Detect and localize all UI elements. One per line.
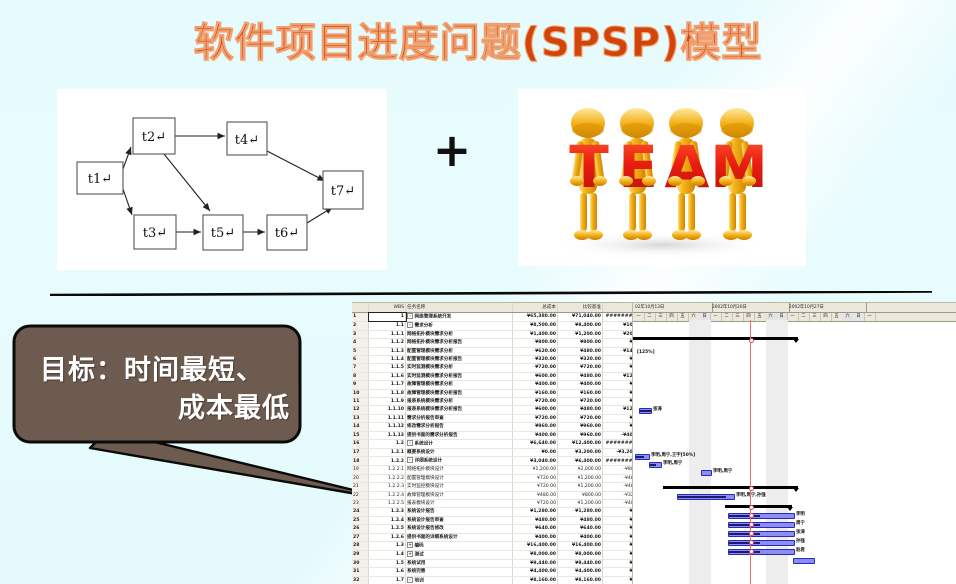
- cell-wbs[interactable]: 1.2.2.1: [369, 466, 406, 474]
- cell-wbs[interactable]: 1.2.3: [369, 508, 406, 516]
- cell-wbs[interactable]: 1.1.5: [369, 364, 406, 372]
- cell-id[interactable]: 30: [352, 559, 369, 567]
- cell-cost[interactable]: ¥6,640.00: [513, 440, 558, 449]
- cell-wbs[interactable]: 1.6: [369, 568, 406, 576]
- table-row[interactable]: 281.3+编码¥16,400.00¥16,400.00¥0.00: [352, 541, 632, 550]
- cell-task-name[interactable]: 系统设计报告审查: [406, 516, 513, 524]
- slide-canvas: 软件项目进度问题(SPSP)模型: [0, 0, 956, 584]
- table-row[interactable]: 71.1.5实时监测模块需求分析¥720.00¥720.00¥0.00: [352, 364, 632, 372]
- table-header-row: WBS 任务名称 总成本 比较基准 差异: [352, 303, 632, 313]
- cell-cost[interactable]: ¥65,380.00: [513, 313, 558, 322]
- gantt-task-bar[interactable]: [677, 494, 735, 500]
- table-row[interactable]: 211.2.2.3实时监控模块设计¥720.00¥1,200.00-¥480.0…: [352, 483, 632, 491]
- cell-task-name[interactable]: +测试: [406, 550, 513, 559]
- cell-cost[interactable]: ¥1,200.00: [513, 466, 558, 474]
- cell-task-name[interactable]: 配置管理模块设计: [406, 474, 513, 482]
- cell-variance[interactable]: ¥120.00: [603, 406, 633, 414]
- gantt-resource-label: 周宁: [796, 521, 805, 527]
- cell-wbs[interactable]: 1.7: [369, 576, 406, 584]
- cell-wbs[interactable]: 1.2.2.2: [369, 474, 406, 482]
- gantt-summary-bar[interactable]: [633, 337, 798, 340]
- cell-cost[interactable]: ¥600.00: [513, 406, 558, 414]
- section-divider: [50, 291, 932, 296]
- gantt-task-bar[interactable]: [728, 531, 795, 537]
- cell-task-name[interactable]: -需求分析: [406, 321, 513, 330]
- cell-wbs[interactable]: 1.2.2.3: [369, 483, 406, 491]
- table-row[interactable]: 251.2.4系统设计报告审查¥480.00¥480.00¥0.00: [352, 516, 632, 524]
- cell-cost[interactable]: ¥400.00: [513, 431, 558, 439]
- table-row[interactable]: 101.1.8故障管理模块需求分析报告¥160.00¥160.00¥0.00: [352, 389, 632, 397]
- gantt-task-bar[interactable]: [649, 462, 662, 468]
- cell-wbs[interactable]: 1.2.2.5: [369, 499, 406, 507]
- cell-task-name[interactable]: -详细系统设计: [406, 457, 513, 466]
- cell-variance[interactable]: -¥480.00: [603, 483, 633, 491]
- expand-collapse-icon[interactable]: -: [407, 440, 413, 446]
- team-letter-a: A: [665, 133, 710, 201]
- cell-wbs[interactable]: 1.4: [369, 550, 406, 559]
- cell-id[interactable]: 18: [352, 457, 369, 466]
- gantt-task-bar[interactable]: [728, 513, 795, 519]
- cell-cost[interactable]: ¥480.00: [513, 491, 558, 499]
- node-label-t3: t3↵: [143, 226, 167, 241]
- cell-variance[interactable]: -¥800.00: [603, 466, 633, 474]
- cell-baseline[interactable]: ¥8,000.00: [558, 550, 603, 559]
- gantt-progress-fill: [640, 410, 651, 412]
- cell-wbs[interactable]: 1.1.8: [369, 389, 406, 397]
- network-diagram-svg: t1↵ t2↵ t3↵ t4↵ t5↵ t6↵ t7↵: [57, 89, 387, 270]
- gantt-task-bar[interactable]: [639, 408, 652, 414]
- cell-variance[interactable]: -¥3,200.00: [603, 449, 633, 457]
- cell-variance[interactable]: ¥0.00: [603, 381, 633, 389]
- cell-id[interactable]: 29: [352, 550, 369, 559]
- timeline-segment: 2002年10月27日: [787, 303, 867, 312]
- cell-id[interactable]: 2: [352, 321, 369, 330]
- critical-marker: [749, 522, 754, 527]
- cell-id[interactable]: 3: [352, 330, 369, 338]
- cell-baseline[interactable]: ¥8,160.00: [558, 576, 603, 584]
- node-label-t1: t1↵: [88, 172, 112, 187]
- cell-id[interactable]: 9: [352, 381, 369, 389]
- cell-wbs[interactable]: 1.1: [369, 321, 406, 330]
- cell-wbs[interactable]: 1.1.13: [369, 431, 406, 439]
- cell-variance[interactable]: ¥0.00: [603, 339, 633, 347]
- table-row[interactable]: 191.2.2.1网络拓扑模块设计¥1,200.00¥2,000.00-¥800…: [352, 466, 632, 474]
- table-row[interactable]: 271.2.6提供书面的详细系统设计¥400.00¥400.00¥0.00: [352, 533, 632, 541]
- gantt-progress-fill: [729, 515, 760, 517]
- cell-id[interactable]: 13: [352, 414, 369, 422]
- cell-baseline[interactable]: ¥16,400.00: [558, 541, 603, 550]
- cell-task-name[interactable]: 故障管理模块需求分析: [406, 381, 513, 389]
- gantt-resource-label: 张涛: [653, 407, 662, 413]
- cell-id[interactable]: 4: [352, 339, 369, 347]
- table-row[interactable]: 171.2.1概要系统设计¥0.00¥3,200.00-¥3,200.00: [352, 449, 632, 457]
- cell-variance[interactable]: ¥120.00: [603, 372, 633, 380]
- table-row[interactable]: 121.1.10报表系统模块需求分析报告¥600.00¥480.00¥120.0…: [352, 406, 632, 414]
- table-row[interactable]: 21.1-需求分析¥8,500.00¥8,400.00¥100.00: [352, 321, 632, 330]
- cell-baseline[interactable]: ¥3,200.00: [558, 449, 603, 457]
- cell-id[interactable]: 28: [352, 541, 369, 550]
- col-header-variance[interactable]: 差异: [603, 303, 633, 313]
- cell-cost[interactable]: ¥620.00: [513, 347, 558, 355]
- cell-baseline[interactable]: ¥1,200.00: [558, 499, 603, 507]
- cell-cost[interactable]: ¥480.00: [513, 516, 558, 524]
- gantt-pane[interactable]: 02年10月13日2002年10月20日2002年10月27日 一二三四五六日一…: [632, 303, 956, 584]
- cell-task-name[interactable]: 实时监测模块需求分析: [406, 364, 513, 372]
- cell-cost[interactable]: ¥0.00: [513, 449, 558, 457]
- table-row[interactable]: 41.1.2网络拓扑模块需求分析报告¥800.00¥800.00¥0.00: [352, 339, 632, 347]
- critical-marker: [749, 338, 754, 343]
- node-label-t5: t5↵: [211, 226, 235, 241]
- cell-variance[interactable]: ¥0.00: [603, 533, 633, 541]
- cell-task-name[interactable]: 系统试用: [406, 559, 513, 567]
- cell-id[interactable]: 5: [352, 347, 369, 355]
- cell-task-name[interactable]: +编码: [406, 541, 513, 550]
- cell-id[interactable]: 20: [352, 474, 369, 482]
- cell-task-name[interactable]: 配置管理模块需求分析: [406, 347, 513, 355]
- cell-cost[interactable]: ¥800.00: [513, 339, 558, 347]
- cell-task-name[interactable]: 实时监控模块设计: [406, 483, 513, 491]
- cell-wbs[interactable]: 1.5: [369, 559, 406, 567]
- ms-project-screenshot[interactable]: WBS 任务名称 总成本 比较基准 差异 11-网络管理系统开发¥65,380.…: [352, 302, 956, 584]
- cell-id[interactable]: 12: [352, 406, 369, 414]
- cell-task-name[interactable]: -系统设计: [406, 440, 513, 449]
- cell-cost[interactable]: ¥3,040.00: [513, 457, 558, 466]
- cell-task-name[interactable]: 修改需求分析报告: [406, 423, 513, 431]
- timeline-week-header[interactable]: 02年10月13日2002年10月20日2002年10月27日: [633, 303, 956, 313]
- cell-variance[interactable]: ¥0.00: [603, 414, 633, 422]
- gantt-resource-label: 张涛: [796, 530, 805, 536]
- callout-line-1: 目标：时间最短、: [40, 352, 290, 390]
- table-row[interactable]: 221.2.2.4故障管理模块设计¥480.00¥800.00-¥320.00: [352, 491, 632, 499]
- cell-wbs[interactable]: 1.1.3: [369, 347, 406, 355]
- cell-baseline[interactable]: ¥960.00: [558, 431, 603, 439]
- table-row[interactable]: 61.1.4配置管理模块需求分析报告¥320.00¥320.00¥0.00: [352, 356, 632, 364]
- gantt-summary-bar[interactable]: [725, 505, 792, 508]
- table-row[interactable]: 31.1.1网络拓扑模块需求分析¥1,400.00¥1,200.00¥200.0…: [352, 330, 632, 338]
- gantt-progress-fill: [729, 533, 760, 535]
- cell-wbs[interactable]: 1.2.6: [369, 533, 406, 541]
- cell-variance[interactable]: ¥0.00: [603, 550, 633, 559]
- cell-id[interactable]: 17: [352, 449, 369, 457]
- cell-id[interactable]: 26: [352, 525, 369, 533]
- cell-cost[interactable]: ¥720.00: [513, 474, 558, 482]
- cell-variance[interactable]: -¥480.00: [603, 499, 633, 507]
- cell-id[interactable]: 24: [352, 508, 369, 516]
- cell-variance[interactable]: ¥0.00: [603, 525, 633, 533]
- cell-id[interactable]: 14: [352, 423, 369, 431]
- page-title: 软件项目进度问题(SPSP)模型: [0, 10, 956, 68]
- cell-baseline[interactable]: ¥480.00: [558, 516, 603, 524]
- cell-cost[interactable]: ¥720.00: [513, 483, 558, 491]
- cell-baseline[interactable]: ¥9,440.00: [558, 559, 603, 567]
- cell-variance[interactable]: ¥0.00: [603, 398, 633, 406]
- cell-cost[interactable]: ¥640.00: [513, 525, 558, 533]
- cell-variance[interactable]: -¥320.00: [603, 491, 633, 499]
- cell-task-name[interactable]: 故障管理模块需求分析报告: [406, 389, 513, 397]
- col-header-cost[interactable]: 总成本: [513, 303, 558, 313]
- table-row[interactable]: 141.1.12修改需求分析报告¥960.00¥960.00¥0.00: [352, 423, 632, 431]
- cell-variance[interactable]: ¥0.00: [603, 356, 633, 364]
- cell-variance[interactable]: ##########: [603, 440, 633, 449]
- cell-baseline[interactable]: ¥1,280.00: [558, 508, 603, 516]
- cell-task-name[interactable]: 提供书面的需求分析报告: [406, 431, 513, 439]
- cell-baseline[interactable]: ¥800.00: [558, 491, 603, 499]
- critical-marker: [749, 486, 754, 491]
- cell-id[interactable]: 7: [352, 364, 369, 372]
- cell-cost[interactable]: ¥400.00: [513, 533, 558, 541]
- cell-cost[interactable]: ¥8,000.00: [513, 550, 558, 559]
- table-row[interactable]: 51.1.3配置管理模块需求分析¥620.00¥480.00¥140.00: [352, 347, 632, 355]
- cell-id[interactable]: 10: [352, 389, 369, 397]
- table-row[interactable]: 311.6系统完善¥4,400.00¥4,400.00¥0.00: [352, 568, 632, 576]
- timeline-segment: 02年10月13日: [633, 303, 713, 312]
- cell-task-name[interactable]: 需求分析报告审查: [406, 414, 513, 422]
- cell-cost[interactable]: ¥8,160.00: [513, 576, 558, 584]
- cell-baseline[interactable]: ¥800.00: [558, 339, 603, 347]
- cell-baseline[interactable]: ¥480.00: [558, 406, 603, 414]
- gantt-task-bar[interactable]: [701, 470, 712, 476]
- gantt-progress-fill: [636, 456, 644, 458]
- cell-cost[interactable]: ¥16,400.00: [513, 541, 558, 550]
- table-row[interactable]: 321.7-培训¥8,160.00¥8,160.00¥0.00: [352, 576, 632, 584]
- cell-id[interactable]: 8: [352, 372, 369, 380]
- cell-wbs[interactable]: 1.3: [369, 541, 406, 550]
- cell-cost[interactable]: ¥720.00: [513, 414, 558, 422]
- cell-task-name[interactable]: 报表系统模块需求分析报告: [406, 406, 513, 414]
- cell-baseline[interactable]: ¥400.00: [558, 533, 603, 541]
- expand-collapse-icon[interactable]: -: [407, 313, 413, 319]
- task-grid-pane[interactable]: WBS 任务名称 总成本 比较基准 差异 11-网络管理系统开发¥65,380.…: [352, 303, 632, 584]
- cell-id[interactable]: 6: [352, 356, 369, 364]
- cell-id[interactable]: 21: [352, 483, 369, 491]
- cell-cost[interactable]: ¥9,440.00: [513, 559, 558, 567]
- table-row[interactable]: 201.2.2.2配置管理模块设计¥720.00¥1,200.00-¥480.0…: [352, 474, 632, 482]
- cell-baseline[interactable]: ¥720.00: [558, 364, 603, 372]
- cell-baseline[interactable]: ¥71,040.00: [558, 313, 603, 322]
- critical-marker: [749, 513, 754, 518]
- node-label-t4: t4↵: [235, 133, 259, 148]
- table-row[interactable]: 161.2-系统设计¥6,640.00¥12,400.00##########: [352, 440, 632, 449]
- cell-variance[interactable]: ¥0.00: [603, 389, 633, 397]
- cell-variance[interactable]: ¥200.00: [603, 330, 633, 338]
- cell-task-name[interactable]: 网络拓扑模块需求分析: [406, 330, 513, 338]
- cell-wbs[interactable]: 1.1.6: [369, 372, 406, 380]
- gantt-resource-label: 孙强: [796, 539, 805, 545]
- cell-baseline[interactable]: ¥480.00: [558, 347, 603, 355]
- cell-id[interactable]: 31: [352, 568, 369, 576]
- critical-marker: [749, 531, 754, 536]
- cell-wbs[interactable]: 1: [369, 313, 406, 322]
- cell-wbs[interactable]: 1.1.10: [369, 406, 406, 414]
- cell-cost[interactable]: ¥720.00: [513, 364, 558, 372]
- gantt-task-bar[interactable]: [728, 522, 795, 528]
- cell-wbs[interactable]: 1.1.7: [369, 381, 406, 389]
- gantt-progress-fill: [678, 496, 726, 498]
- gantt-annotation: [125%]: [637, 350, 655, 356]
- cell-id[interactable]: 19: [352, 466, 369, 474]
- gantt-summary-bar[interactable]: [663, 486, 798, 489]
- cell-task-name[interactable]: -网络管理系统开发: [406, 313, 513, 322]
- table-row[interactable]: 91.1.7故障管理模块需求分析¥400.00¥400.00¥0.00: [352, 381, 632, 389]
- cell-wbs[interactable]: 1.1.9: [369, 398, 406, 406]
- cell-baseline[interactable]: ¥640.00: [558, 525, 603, 533]
- cell-cost[interactable]: ¥8,500.00: [513, 321, 558, 330]
- node-label-t6: t6↵: [275, 226, 299, 241]
- cell-cost[interactable]: ¥160.00: [513, 389, 558, 397]
- task-table-body: 11-网络管理系统开发¥65,380.00¥71,040.00#########…: [352, 313, 632, 584]
- cell-baseline[interactable]: ¥1,200.00: [558, 483, 603, 491]
- cell-baseline[interactable]: ¥160.00: [558, 389, 603, 397]
- cell-baseline[interactable]: ¥480.00: [558, 372, 603, 380]
- cell-variance[interactable]: ¥0.00: [603, 508, 633, 516]
- cell-variance[interactable]: ¥0.00: [603, 576, 633, 584]
- cell-variance[interactable]: ##########: [603, 313, 633, 322]
- cell-baseline[interactable]: ¥960.00: [558, 423, 603, 431]
- expand-collapse-icon[interactable]: -: [407, 457, 413, 463]
- table-row[interactable]: 291.4+测试¥8,000.00¥8,000.00¥0.00: [352, 550, 632, 559]
- table-row[interactable]: 111.1.9报表系统模块需求分析¥720.00¥720.00¥0.00: [352, 398, 632, 406]
- cell-variance[interactable]: -¥480.00: [603, 474, 633, 482]
- gantt-task-bar[interactable]: [728, 549, 795, 555]
- cell-id[interactable]: 15: [352, 431, 369, 439]
- cell-task-name[interactable]: 系统设计报告: [406, 508, 513, 516]
- gantt-resource-label: 李明,周宁: [713, 469, 732, 475]
- table-row[interactable]: 11-网络管理系统开发¥65,380.00¥71,040.00#########…: [352, 313, 632, 322]
- cell-variance[interactable]: ¥0.00: [603, 364, 633, 372]
- cell-wbs[interactable]: 1.1.2: [369, 339, 406, 347]
- node-label-t2: t2↵: [142, 130, 166, 145]
- cell-cost[interactable]: ¥1,280.00: [513, 508, 558, 516]
- cell-id[interactable]: 23: [352, 499, 369, 507]
- table-row[interactable]: 301.5系统试用¥9,440.00¥9,440.00¥0.00: [352, 559, 632, 567]
- expand-collapse-icon[interactable]: -: [407, 577, 413, 583]
- team-letter-t: T: [569, 133, 609, 201]
- cell-id[interactable]: 32: [352, 576, 369, 584]
- cell-task-name[interactable]: 提供书面的详细系统设计: [406, 533, 513, 541]
- cell-wbs[interactable]: 1.2.2: [369, 457, 406, 466]
- cell-id[interactable]: 16: [352, 440, 369, 449]
- cell-baseline[interactable]: ¥400.00: [558, 381, 603, 389]
- gantt-resource-label: 赵君: [796, 548, 805, 554]
- gantt-progress-fill: [729, 524, 760, 526]
- cell-wbs[interactable]: 1.1.11: [369, 414, 406, 422]
- cell-variance[interactable]: ¥0.00: [603, 516, 633, 524]
- table-row[interactable]: 131.1.11需求分析报告审查¥720.00¥720.00¥0.00: [352, 414, 632, 422]
- cell-task-name[interactable]: 网络拓扑模块设计: [406, 466, 513, 474]
- cell-task-name[interactable]: 实时监测模块需求分析报告: [406, 372, 513, 380]
- cell-wbs[interactable]: 1.1.1: [369, 330, 406, 338]
- cell-variance[interactable]: -¥400.00: [603, 431, 633, 439]
- cell-baseline[interactable]: ¥12,400.00: [558, 440, 603, 449]
- table-row[interactable]: 181.2.2-详细系统设计¥3,040.00¥6,400.00########…: [352, 457, 632, 466]
- cell-baseline[interactable]: ¥8,400.00: [558, 321, 603, 330]
- cell-wbs[interactable]: 1.2.4: [369, 516, 406, 524]
- team-image: T E A M: [518, 89, 806, 266]
- table-row[interactable]: 151.1.13提供书面的需求分析报告¥400.00¥960.00-¥400.0…: [352, 431, 632, 439]
- cell-baseline[interactable]: ¥4,400.00: [558, 568, 603, 576]
- critical-marker: [749, 505, 754, 510]
- cell-baseline[interactable]: ¥1,200.00: [558, 330, 603, 338]
- summary-bar-cap: [793, 339, 799, 343]
- cell-task-name[interactable]: 故障管理模块设计: [406, 491, 513, 499]
- table-row[interactable]: 261.2.5系统设计报告修改¥640.00¥640.00¥0.00: [352, 525, 632, 533]
- timeline-segment: 2002年10月20日: [710, 303, 790, 312]
- expand-collapse-icon[interactable]: +: [407, 551, 413, 557]
- cell-task-name[interactable]: 系统设计报告修改: [406, 525, 513, 533]
- cell-task-name[interactable]: 报表系统模块需求分析: [406, 398, 513, 406]
- team-image-svg: T E A M: [518, 89, 806, 266]
- table-row[interactable]: 81.1.6实时监测模块需求分析报告¥600.00¥480.00¥120.00: [352, 372, 632, 380]
- cell-task-name[interactable]: 系统完善: [406, 568, 513, 576]
- cell-task-name[interactable]: -培训: [406, 576, 513, 584]
- gantt-task-bar[interactable]: [635, 454, 650, 460]
- cell-wbs[interactable]: 1.1.4: [369, 356, 406, 364]
- cell-id[interactable]: 22: [352, 491, 369, 499]
- col-header-wbs[interactable]: WBS: [369, 303, 406, 313]
- cell-task-name[interactable]: 报表模块设计: [406, 499, 513, 507]
- task-network-diagram: t1↵ t2↵ t3↵ t4↵ t5↵ t6↵ t7↵: [57, 89, 387, 270]
- cell-baseline[interactable]: ¥720.00: [558, 398, 603, 406]
- col-header-id[interactable]: [352, 303, 369, 313]
- cell-variance[interactable]: ¥0.00: [603, 541, 633, 550]
- gantt-task-bar[interactable]: [728, 540, 795, 546]
- cell-task-name[interactable]: 配置管理模块需求分析报告: [406, 356, 513, 364]
- cell-cost[interactable]: ¥320.00: [513, 356, 558, 364]
- cell-id[interactable]: 11: [352, 398, 369, 406]
- cell-id[interactable]: 1: [352, 313, 369, 322]
- cell-cost[interactable]: ¥1,400.00: [513, 330, 558, 338]
- critical-marker: [749, 540, 754, 545]
- cell-cost[interactable]: ¥4,400.00: [513, 568, 558, 576]
- cell-wbs[interactable]: 1.2.1: [369, 449, 406, 457]
- col-header-name[interactable]: 任务名称: [406, 303, 513, 313]
- cell-wbs[interactable]: 1.2.2.4: [369, 491, 406, 499]
- cell-task-name[interactable]: 概要系统设计: [406, 449, 513, 457]
- cell-baseline[interactable]: ¥320.00: [558, 356, 603, 364]
- cell-cost[interactable]: ¥400.00: [513, 381, 558, 389]
- callout-text: 目标：时间最短、 成本最低: [40, 352, 290, 428]
- cell-variance[interactable]: ¥0.00: [603, 423, 633, 431]
- cell-cost[interactable]: ¥720.00: [513, 398, 558, 406]
- cell-variance[interactable]: ¥0.00: [603, 559, 633, 567]
- col-header-baseline[interactable]: 比较基准: [558, 303, 603, 313]
- team-letter-m: M: [710, 133, 768, 201]
- cell-cost[interactable]: ¥960.00: [513, 423, 558, 431]
- cell-task-name[interactable]: 网络拓扑模块需求分析报告: [406, 339, 513, 347]
- cell-baseline[interactable]: ¥1,200.00: [558, 474, 603, 482]
- cell-variance[interactable]: ¥100.00: [603, 321, 633, 330]
- cell-cost[interactable]: ¥600.00: [513, 372, 558, 380]
- cell-cost[interactable]: ¥720.00: [513, 499, 558, 507]
- table-row[interactable]: 241.2.3系统设计报告¥1,280.00¥1,280.00¥0.00: [352, 508, 632, 516]
- gantt-chart-area[interactable]: [125%]张涛李明,周宁,王宇[50%]李明,周宁李明,周宁李明,周宁,孙强李…: [633, 320, 956, 584]
- cell-variance[interactable]: ¥140.00: [603, 347, 633, 355]
- cell-variance[interactable]: ¥0.00: [603, 568, 633, 576]
- cell-wbs[interactable]: 1.1.12: [369, 423, 406, 431]
- cell-baseline[interactable]: ¥720.00: [558, 414, 603, 422]
- cell-wbs[interactable]: 1.2: [369, 440, 406, 449]
- expand-collapse-icon[interactable]: +: [407, 542, 413, 548]
- cell-baseline[interactable]: ¥2,000.00: [558, 466, 603, 474]
- cell-variance[interactable]: ##########: [603, 457, 633, 466]
- cell-wbs[interactable]: 1.2.5: [369, 525, 406, 533]
- table-row[interactable]: 231.2.2.5报表模块设计¥720.00¥1,200.00-¥480.00: [352, 499, 632, 507]
- cell-id[interactable]: 27: [352, 533, 369, 541]
- expand-collapse-icon[interactable]: -: [407, 322, 413, 328]
- cell-baseline[interactable]: ¥6,400.00: [558, 457, 603, 466]
- gantt-task-bar[interactable]: [793, 558, 815, 564]
- cell-id[interactable]: 25: [352, 516, 369, 524]
